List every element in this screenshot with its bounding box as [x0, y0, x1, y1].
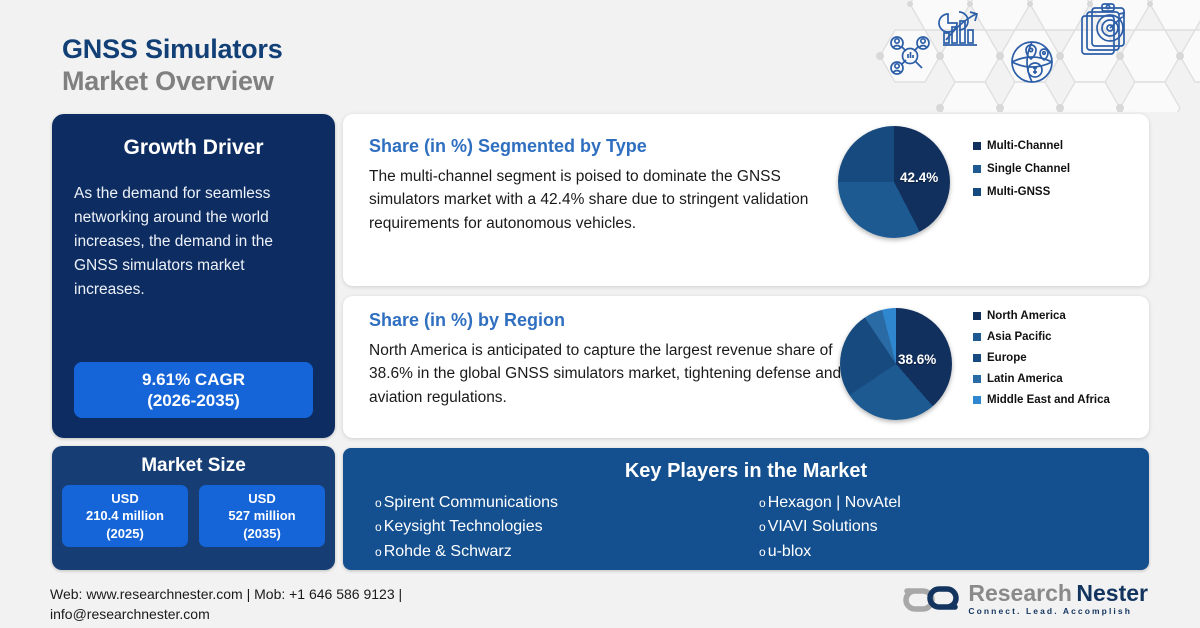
legend-swatch-icon — [973, 188, 981, 196]
legend-label: Asia Pacific — [987, 331, 1052, 343]
infographic-root: GNSS Simulators Market Overview Growth D… — [0, 0, 1200, 628]
list-item: o VIAVI Solutions — [759, 515, 1143, 539]
key-players-column-left: o Spirent Communications o Keysight Tech… — [375, 491, 759, 564]
global-finance-icon — [1012, 42, 1052, 82]
page-title: GNSS Simulators — [62, 34, 283, 66]
player-name: Rohde & Schwarz — [384, 540, 512, 564]
page-subtitle: Market Overview — [62, 66, 283, 98]
player-name: Keysight Technologies — [384, 515, 543, 539]
share-by-region-card: Share (in %) by Region North America is … — [343, 296, 1149, 438]
legend-label: Single Channel — [987, 163, 1070, 175]
cagr-period: (2026-2035) — [147, 390, 240, 411]
network-people-icon — [891, 37, 929, 74]
growth-driver-card: Growth Driver As the demand for seamless… — [52, 114, 335, 438]
list-item: o Hexagon | NovAtel — [759, 491, 1143, 515]
type-pie-legend: Multi-Channel Single Channel Multi-GNSS — [973, 140, 1070, 209]
legend-item: Multi-Channel — [973, 140, 1070, 152]
logo-tagline: Connect. Lead. Accomplish — [968, 607, 1148, 616]
bullet-icon: o — [375, 543, 382, 561]
type-pie-data-label: 42.4% — [900, 170, 938, 185]
region-pie-legend: North America Asia Pacific Europe Latin … — [973, 310, 1110, 415]
player-name: u-blox — [768, 540, 812, 564]
legend-label: Multi-GNSS — [987, 186, 1050, 198]
player-name: VIAVI Solutions — [768, 515, 878, 539]
legend-swatch-icon — [973, 375, 981, 383]
legend-label: Europe — [987, 352, 1027, 364]
growth-chart-icon — [939, 12, 977, 45]
legend-item: Multi-GNSS — [973, 186, 1070, 198]
growth-driver-title: Growth Driver — [52, 136, 335, 160]
region-pie-chart: 38.6% — [840, 308, 952, 420]
clipboard-target-icon — [1082, 4, 1124, 54]
legend-item: Middle East and Africa — [973, 394, 1110, 406]
logo-mark-icon — [903, 582, 959, 616]
year-label: (2025) — [106, 525, 144, 542]
footer-contact: Web: www.researchnester.com | Mob: +1 64… — [50, 584, 520, 625]
market-size-values: USD 210.4 million (2025) USD 527 million… — [52, 485, 335, 547]
legend-swatch-icon — [973, 354, 981, 362]
legend-label: Latin America — [987, 373, 1063, 385]
legend-swatch-icon — [973, 312, 981, 320]
key-players-columns: o Spirent Communications o Keysight Tech… — [343, 491, 1149, 564]
logo-text: Research Nester Connect. Lead. Accomplis… — [968, 582, 1148, 616]
key-players-card: Key Players in the Market o Spirent Comm… — [343, 448, 1149, 570]
amount-label: 210.4 million — [86, 507, 164, 524]
currency-label: USD — [248, 490, 275, 507]
research-nester-logo: Research Nester Connect. Lead. Accomplis… — [903, 582, 1148, 616]
list-item: o Keysight Technologies — [375, 515, 759, 539]
legend-label: Multi-Channel — [987, 140, 1063, 152]
legend-item: Europe — [973, 352, 1110, 364]
year-label: (2035) — [243, 525, 281, 542]
player-name: Spirent Communications — [384, 491, 558, 515]
market-size-title: Market Size — [52, 446, 335, 477]
legend-swatch-icon — [973, 333, 981, 341]
footer-line-2: info@researchnester.com — [50, 604, 520, 624]
legend-item: Asia Pacific — [973, 331, 1110, 343]
legend-label: Middle East and Africa — [987, 394, 1110, 406]
bullet-icon: o — [375, 518, 382, 536]
list-item: o u-blox — [759, 540, 1143, 564]
market-size-card: Market Size USD 210.4 million (2025) USD… — [52, 446, 335, 570]
legend-swatch-icon — [973, 396, 981, 404]
bullet-icon: o — [759, 518, 766, 536]
list-item: o Rohde & Schwarz — [375, 540, 759, 564]
hexagon-pattern-svg — [840, 0, 1200, 112]
key-players-column-right: o Hexagon | NovAtel o VIAVI Solutions o … — [759, 491, 1143, 564]
legend-label: North America — [987, 310, 1066, 322]
market-size-box-2035: USD 527 million (2035) — [199, 485, 325, 547]
list-item: o Spirent Communications — [375, 491, 759, 515]
cagr-badge: 9.61% CAGR (2026-2035) — [74, 362, 313, 418]
share-by-region-text: North America is anticipated to capture … — [369, 339, 849, 409]
hexagon-decoration — [840, 0, 1200, 112]
key-players-title: Key Players in the Market — [343, 448, 1149, 483]
player-name: Hexagon | NovAtel — [768, 491, 901, 515]
legend-swatch-icon — [973, 165, 981, 173]
cagr-value: 9.61% CAGR — [142, 369, 245, 390]
growth-driver-body: As the demand for seamless networking ar… — [74, 182, 315, 302]
market-size-box-2025: USD 210.4 million (2025) — [62, 485, 188, 547]
logo-word-research: Research — [968, 580, 1072, 606]
bullet-icon: o — [375, 494, 382, 512]
page-header: GNSS Simulators Market Overview — [62, 34, 283, 98]
logo-word-nester: Nester — [1076, 580, 1148, 606]
currency-label: USD — [111, 490, 138, 507]
legend-item: North America — [973, 310, 1110, 322]
logo-wordmark: Research Nester — [968, 582, 1148, 605]
bullet-icon: o — [759, 543, 766, 561]
legend-item: Latin America — [973, 373, 1110, 385]
legend-item: Single Channel — [973, 163, 1070, 175]
footer-line-1: Web: www.researchnester.com | Mob: +1 64… — [50, 584, 520, 604]
legend-swatch-icon — [973, 142, 981, 150]
share-by-type-card: Share (in %) Segmented by Type The multi… — [343, 114, 1149, 286]
type-pie-chart: 42.4% — [838, 126, 950, 238]
share-by-type-text: The multi-channel segment is poised to d… — [369, 165, 849, 235]
region-pie-data-label: 38.6% — [898, 352, 936, 367]
amount-label: 527 million — [228, 507, 295, 524]
bullet-icon: o — [759, 494, 766, 512]
